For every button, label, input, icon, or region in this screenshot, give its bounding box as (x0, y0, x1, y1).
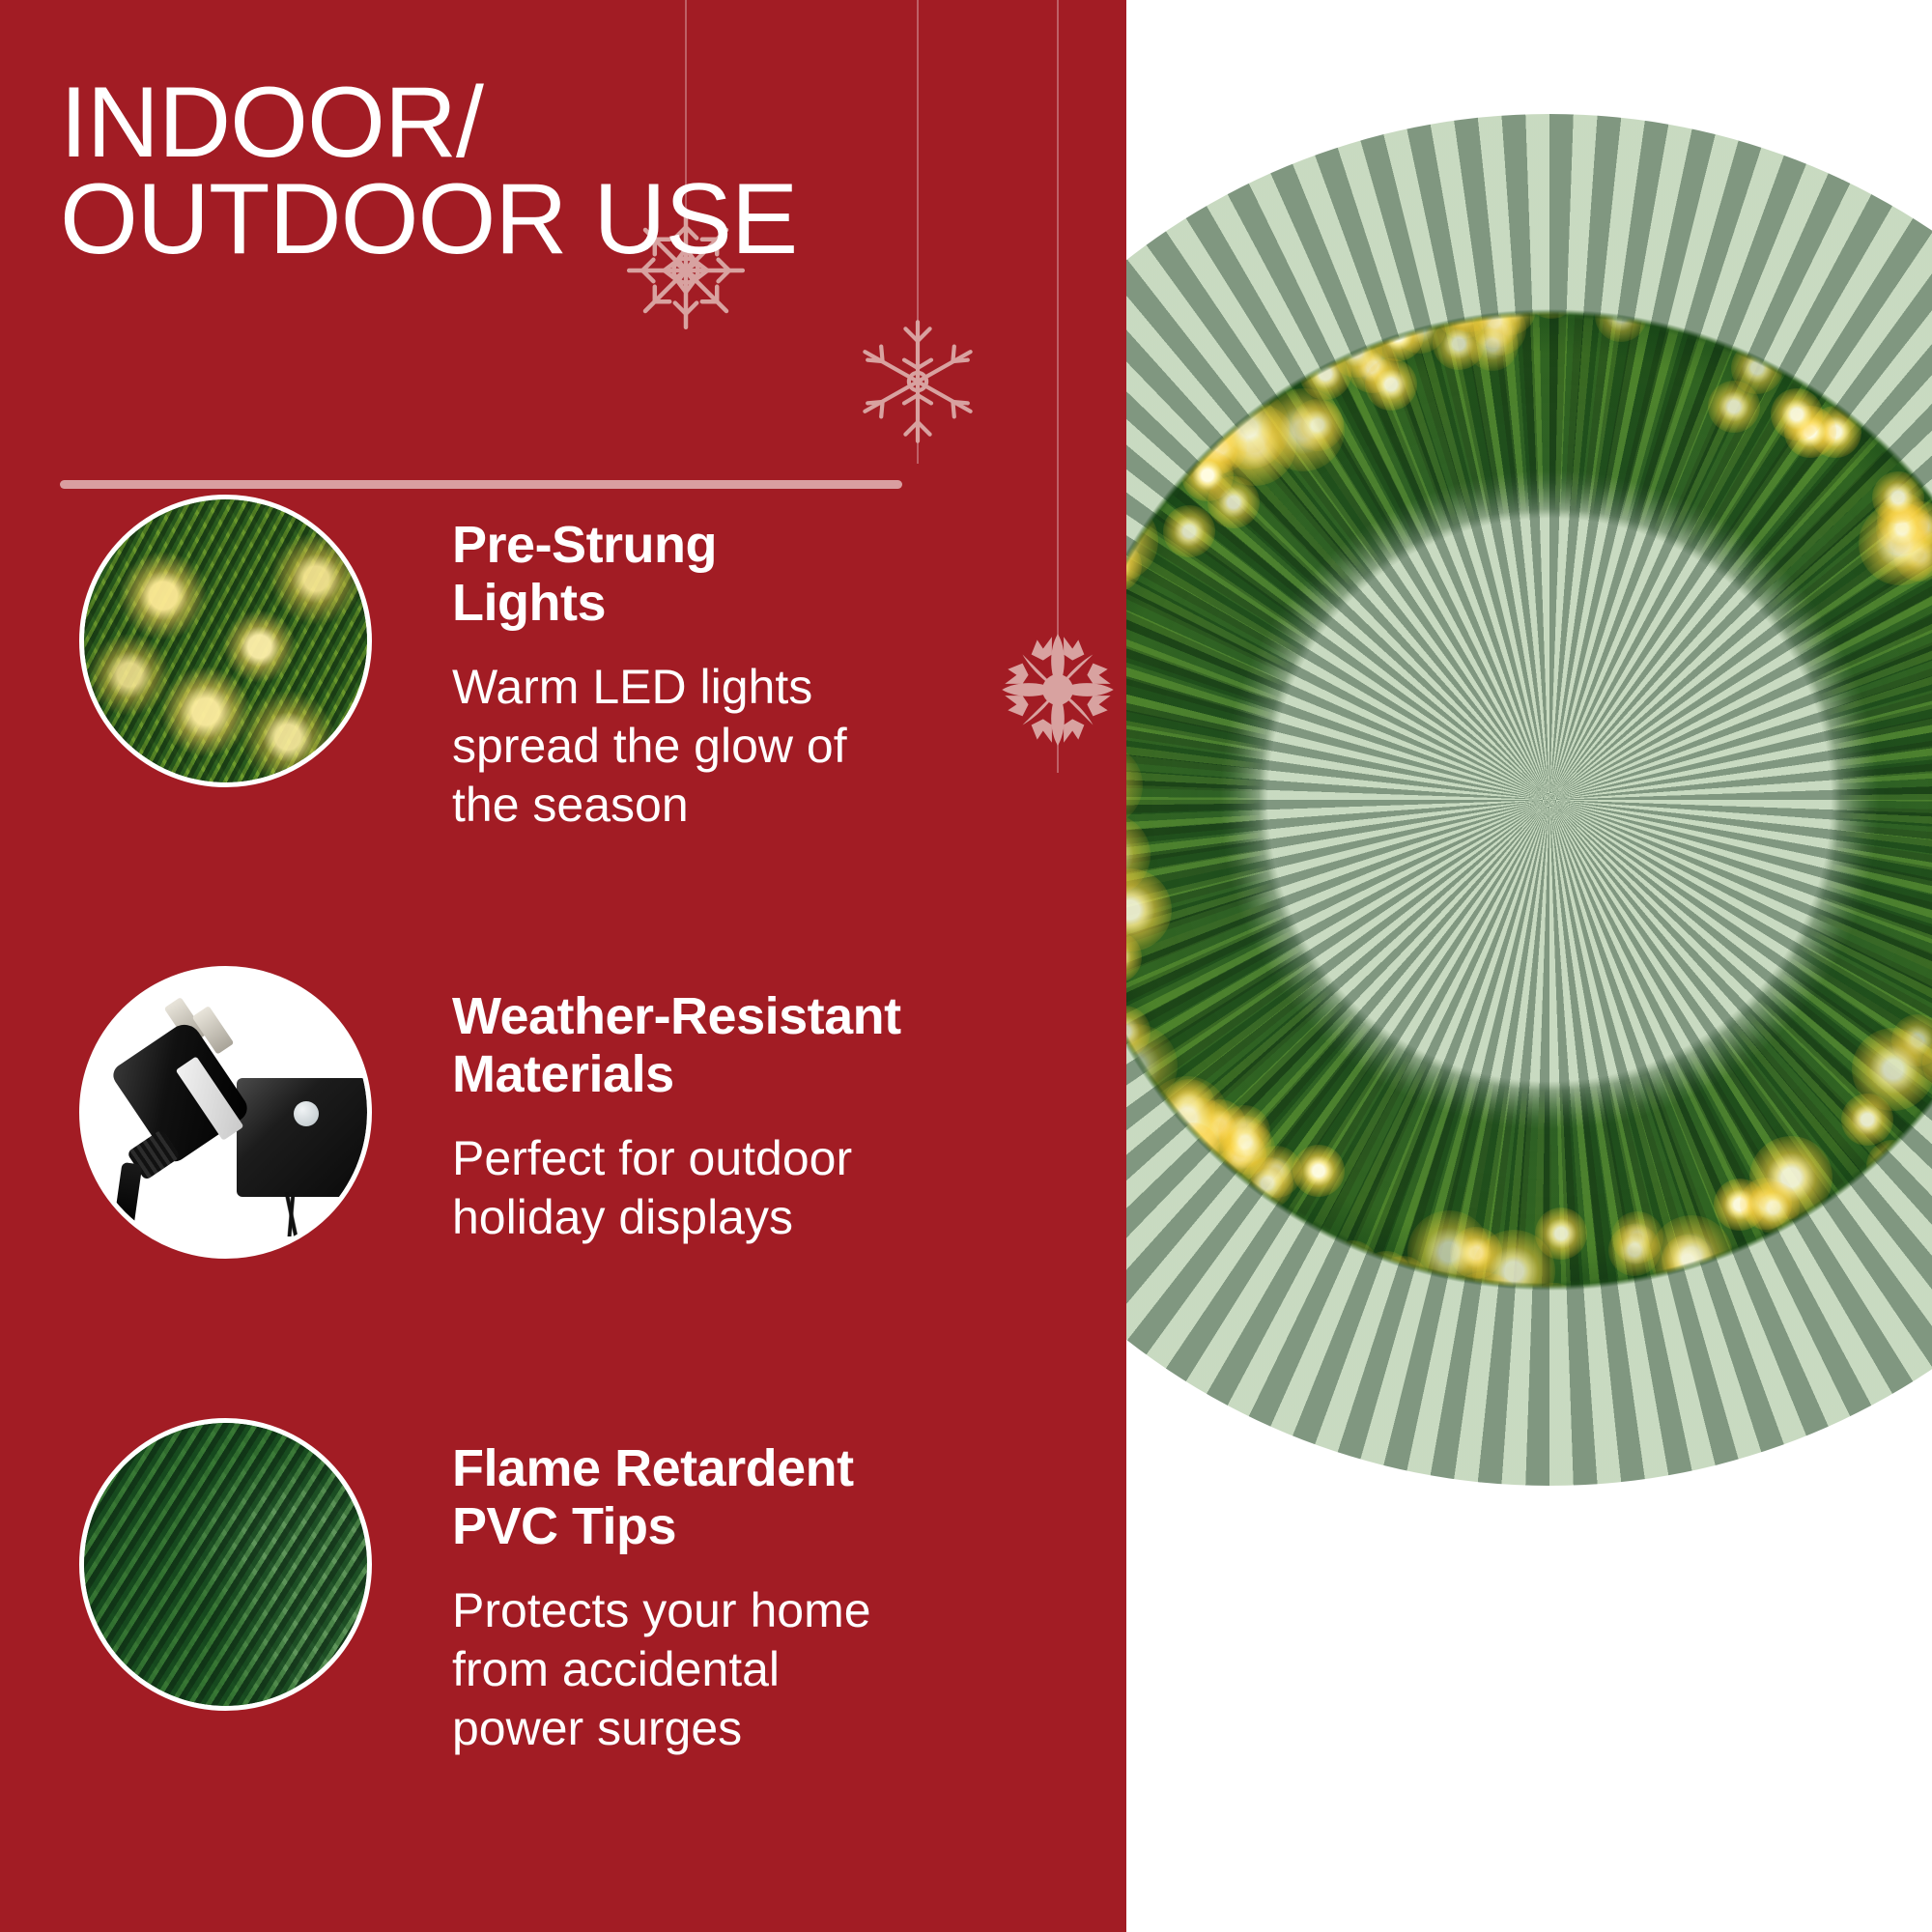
control-box-icon (237, 1078, 367, 1197)
wreath-edge (1126, 114, 1932, 1486)
power-adapter-photo (84, 971, 367, 1254)
control-button-icon (294, 1101, 319, 1126)
lit-pine-photo (84, 499, 367, 782)
feature-heading: Flame Retardent PVC Tips (452, 1439, 1070, 1556)
feature-image-pre-strung-lights (79, 495, 372, 787)
feature-body: Warm LED lights spread the glow of the s… (452, 658, 1070, 835)
infographic-canvas: INDOOR/ OUTDOOR USE Pre-Strung Lights Wa… (0, 0, 1932, 1932)
feature-text-block: Pre-Strung Lights Warm LED lights spread… (452, 516, 1070, 835)
pvc-tips-photo (84, 1423, 367, 1706)
feature-body: Perfect for outdoor holiday displays (452, 1129, 1070, 1247)
title-divider (60, 480, 902, 489)
plug-cord (114, 1162, 142, 1227)
wreath-photo (1126, 114, 1932, 1486)
feature-heading: Weather-Resistant Materials (452, 987, 1070, 1104)
feature-image-power-adapter (79, 966, 372, 1259)
feature-heading: Pre-Strung Lights (452, 516, 1070, 633)
feature-text-block: Flame Retardent PVC Tips Protects your h… (452, 1439, 1070, 1758)
snowflake-icon (850, 314, 985, 449)
feature-body: Protects your home from accidental power… (452, 1581, 1070, 1758)
wires (248, 1192, 339, 1237)
feature-text-block: Weather-Resistant Materials Perfect for … (452, 987, 1070, 1247)
feature-image-pvc-tips (79, 1418, 372, 1711)
product-image-area (1126, 0, 1932, 1932)
feature-panel: INDOOR/ OUTDOOR USE Pre-Strung Lights Wa… (0, 0, 1126, 1932)
page-title: INDOOR/ OUTDOOR USE (60, 75, 1045, 269)
